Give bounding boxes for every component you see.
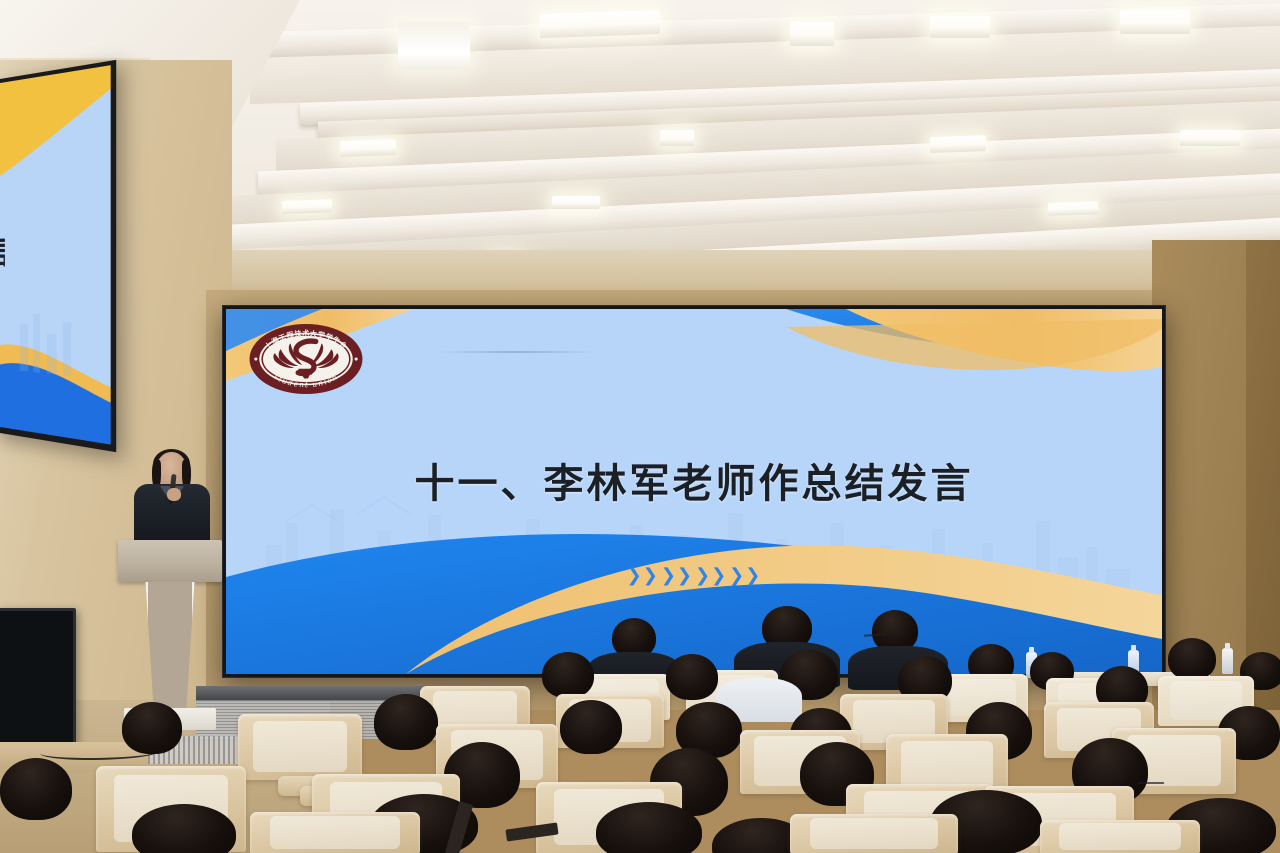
ceiling-light-fixture	[660, 130, 694, 146]
chevron-right-icon: ❯❯	[729, 565, 761, 586]
ceiling-light-fixture	[340, 139, 396, 157]
chevron-right-icon: ❯❯	[627, 565, 659, 586]
attendee-head	[0, 758, 72, 820]
attendee-head	[122, 702, 182, 754]
attendee-head	[542, 652, 594, 698]
attendee-head	[1168, 638, 1216, 680]
ceiling-light-fixture	[930, 16, 990, 38]
auditorium-seat	[238, 714, 362, 780]
attendee-head	[666, 654, 718, 700]
ceiling-light-fixture	[540, 10, 660, 38]
ceiling-light-fixture	[398, 22, 470, 70]
audience-area	[0, 590, 1280, 853]
student-union-emblem: 上海工程技术大学学生会 student union	[247, 322, 367, 397]
chevron-right-icon: ❯❯	[695, 565, 727, 586]
eyeglasses	[1138, 782, 1164, 785]
ceiling-light-fixture	[930, 135, 986, 153]
attendee-head	[560, 700, 622, 754]
chevron-decoration: ❯❯❯❯❯❯❯❯	[226, 565, 1162, 586]
auditorium-seat	[250, 812, 420, 853]
left-side-led-screen: 言	[0, 60, 116, 452]
slide-title: 十一、李林军老师作总结发言	[226, 451, 1162, 509]
side-screen-text-fragment: 言	[0, 224, 5, 274]
attendee-head	[374, 694, 438, 750]
chevron-right-icon: ❯❯	[661, 565, 693, 586]
ceiling-light-fixture	[282, 199, 332, 214]
presenter-at-podium	[134, 452, 210, 544]
ceiling-light-fixture	[1120, 10, 1190, 34]
slide-divider-line	[437, 351, 596, 353]
ceiling-light-fixture	[1048, 201, 1098, 216]
auditorium-seat	[790, 814, 958, 853]
ceiling-light-fixture	[790, 22, 834, 46]
ceiling-light-fixture	[552, 196, 600, 209]
auditorium-seat	[1040, 820, 1200, 853]
auditorium-photo: 言	[0, 0, 1280, 853]
ceiling-light-fixture	[1180, 130, 1240, 146]
attendee-head	[596, 802, 702, 853]
